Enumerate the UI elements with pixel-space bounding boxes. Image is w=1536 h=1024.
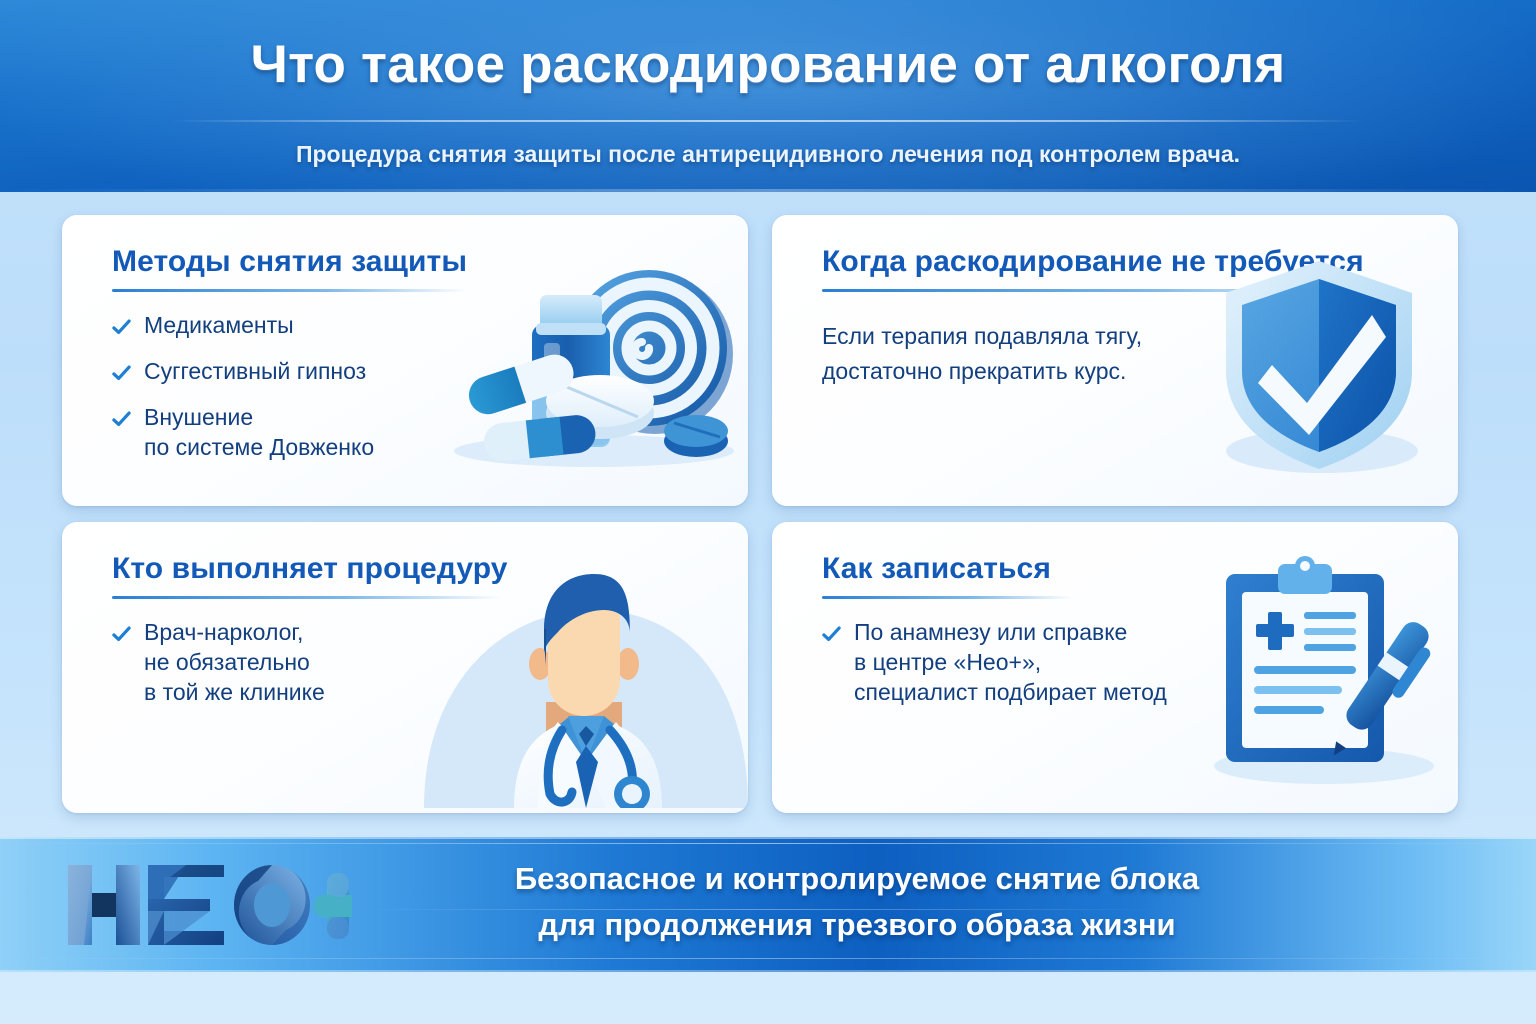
check-icon [112,364,131,383]
card-how-to-book: Как записаться По анамнезу или справке в… [772,522,1458,813]
header-banner: Что такое раскодирование от алкоголя Про… [0,0,1536,192]
infographic-poster: Что такое раскодирование от алкоголя Про… [0,0,1536,1024]
card-underline [112,289,467,292]
list-item: По анамнезу или справке в центре «Нео+»,… [822,618,1222,708]
footer-band: Безопасное и контролируемое снятие блока… [0,837,1536,972]
cards-grid: Методы снятия защиты Медикаменты Суггест… [62,215,1474,813]
card-underline [822,289,1367,292]
card-underline [822,596,1072,599]
list-item: Суггестивный гипноз [112,357,482,387]
card-title-who-performs: Кто выполняет процедуру [112,552,508,586]
list-item-label: Суггестивный гипноз [144,357,366,387]
list-item: Медикаменты [112,311,482,341]
card-underline [112,596,502,599]
footer-tagline: Безопасное и контролируемое снятие блока… [352,856,1362,948]
page-title: Что такое раскодирование от алкоголя [0,34,1536,95]
list-item-label: Медикаменты [144,311,294,341]
bullet-list-who-performs: Врач-нарколог, не обязательно в той же к… [112,618,482,708]
card-methods: Методы снятия защиты Медикаменты Суггест… [62,215,748,506]
card-title-methods: Методы снятия защиты [112,245,467,279]
check-icon [112,410,131,429]
brand-logo [62,855,352,955]
footer-sheen-top [0,843,1536,844]
check-icon [822,625,841,644]
list-item-label: По анамнезу или справке в центре «Нео+»,… [854,618,1167,708]
list-item-label: Врач-нарколог, не обязательно в той же к… [144,618,325,708]
list-item: Врач-нарколог, не обязательно в той же к… [112,618,482,708]
clipboard-pen-icon [1194,550,1434,795]
card-paragraph: Если терапия подавляла тягу, достаточно … [822,319,1222,388]
list-item-label: Внушение по системе Довженко [144,403,374,463]
card-not-required: Когда раскодирование не требуется Если т… [772,215,1458,506]
check-icon [112,318,131,337]
header-divider [170,120,1366,122]
bullet-list-how-to-book: По анамнезу или справке в центре «Нео+»,… [822,618,1222,708]
card-title-how-to-book: Как записаться [822,552,1051,586]
page-subtitle: Процедура снятия защиты после антирециди… [0,141,1536,168]
card-who-performs: Кто выполняет процедуру Врач-нарколог, н… [62,522,748,813]
bullet-list-methods: Медикаменты Суггестивный гипноз Внушение… [112,311,482,463]
list-item: Внушение по системе Довженко [112,403,482,463]
footer-sheen-bottom [0,958,1536,959]
check-icon [112,625,131,644]
card-title-not-required: Когда раскодирование не требуется [822,245,1364,279]
